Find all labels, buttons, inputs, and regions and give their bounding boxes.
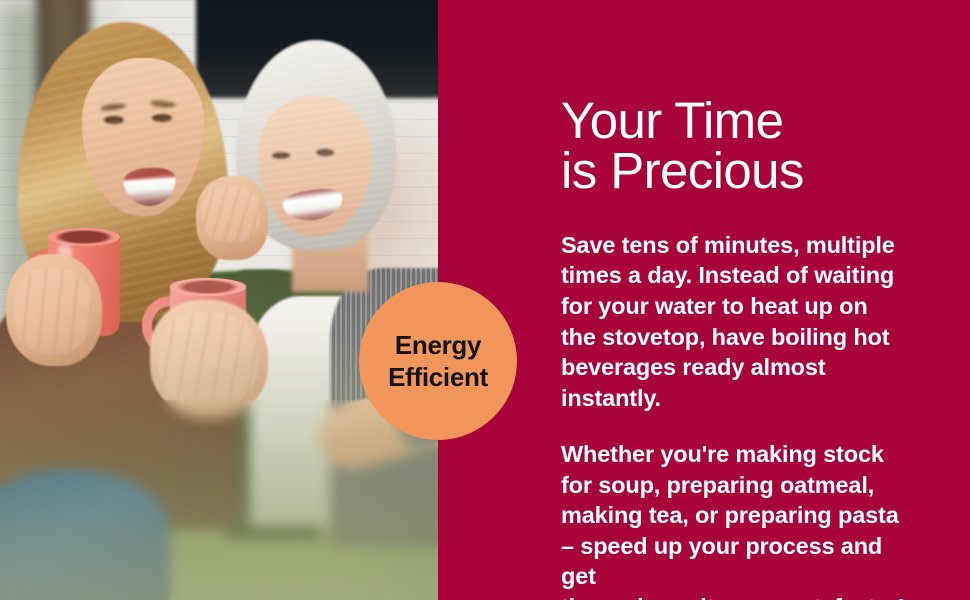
page-title: Your Time is Precious: [561, 96, 913, 196]
copy-block: Your Time is Precious Save tens of minut…: [561, 96, 913, 600]
promo-banner: Your Time is Precious Save tens of minut…: [0, 0, 970, 600]
energy-efficient-badge: Energy Efficient: [359, 282, 517, 440]
hand-fingers-right: [158, 312, 258, 408]
hand-fingers-left: [14, 268, 92, 354]
lifestyle-photo: [0, 0, 438, 600]
pink-mug-rim: [170, 278, 246, 296]
coral-mug-rim: [48, 228, 120, 246]
body-paragraph-2: Whether you're making stock for soup, pr…: [561, 439, 913, 600]
raised-hand-fingers: [202, 186, 260, 242]
text-panel: Your Time is Precious Save tens of minut…: [438, 0, 970, 600]
body-paragraph-1: Save tens of minutes, multiple times a d…: [561, 230, 913, 413]
denim-texture: [0, 470, 170, 600]
badge-label: Energy Efficient: [388, 329, 488, 393]
